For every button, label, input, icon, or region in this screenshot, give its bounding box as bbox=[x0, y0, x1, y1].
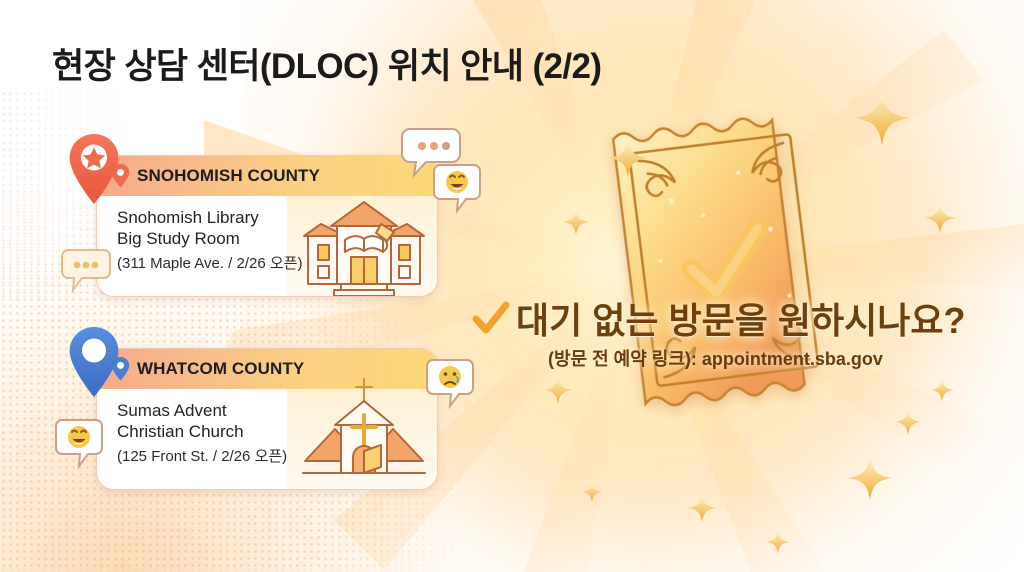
page-title: 현장 상담 센터(DLOC) 위치 안내 (2/2) bbox=[52, 38, 601, 89]
grinning-face-emoji bbox=[432, 163, 482, 215]
place-name-line2: Christian Church bbox=[117, 421, 317, 442]
appointment-link[interactable]: (방문 전 예약 링크): appointment.sba.gov bbox=[548, 345, 883, 371]
grinning-face-emoji bbox=[54, 418, 104, 470]
check-mark-icon bbox=[472, 301, 510, 335]
map-pin-star-icon bbox=[65, 132, 123, 208]
card-body: Sumas Advent Christian Church (125 Front… bbox=[97, 389, 437, 490]
card-header: SNOHOMISH COUNTY bbox=[97, 156, 437, 196]
map-pin-icon bbox=[65, 325, 123, 401]
slide-canvas: 현장 상담 센터(DLOC) 위치 안내 (2/2) SNOHOMISH COU… bbox=[0, 0, 1024, 572]
ellipsis-bubble-icon bbox=[60, 248, 112, 294]
worried-face-emoji bbox=[425, 358, 475, 410]
card-body: Snohomish Library Big Study Room (311 Ma… bbox=[97, 196, 437, 297]
location-card-snohomish[interactable]: SNOHOMISH COUNTY Snohomish Library Big S… bbox=[96, 155, 438, 297]
place-name-line1: Sumas Advent bbox=[117, 400, 317, 421]
cta-headline: 대기 없는 방문을 원하시나요? bbox=[472, 292, 965, 344]
place-name-line2: Big Study Room bbox=[117, 228, 317, 249]
county-label: SNOHOMISH COUNTY bbox=[137, 166, 320, 186]
golden-ticket-icon bbox=[600, 105, 850, 435]
place-name-line1: Snohomish Library bbox=[117, 207, 317, 228]
cta-headline-text: 대기 없는 방문을 원하시나요? bbox=[516, 292, 965, 344]
location-card-whatcom[interactable]: WHATCOM COUNTY Sumas Advent Christian Ch… bbox=[96, 348, 438, 490]
church-building-icon bbox=[301, 375, 427, 487]
county-label: WHATCOM COUNTY bbox=[137, 359, 304, 379]
library-building-icon bbox=[301, 192, 427, 296]
